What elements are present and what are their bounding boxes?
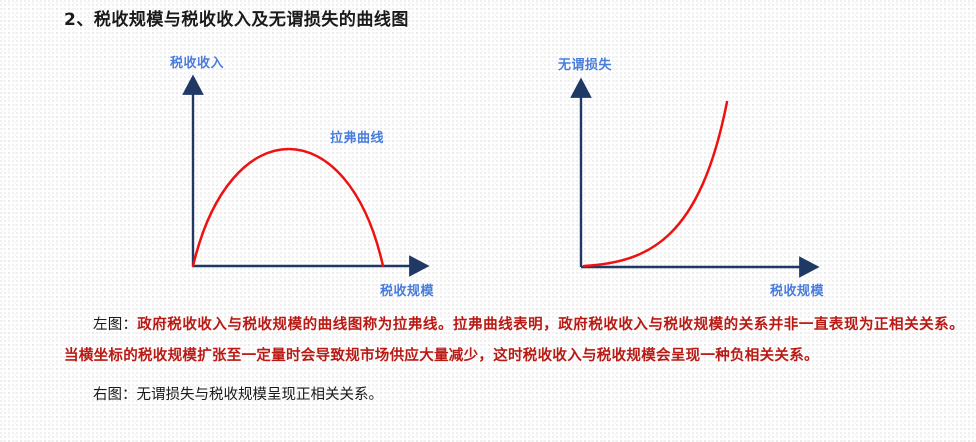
paragraph-left-figure: 左图：政府税收收入与税收规模的曲线图称为拉弗线。拉弗曲线表明，政府税收收入与税收… [64, 310, 964, 372]
figure-area: 税收收入 税收规模 拉弗曲线 [0, 40, 976, 305]
deadweight-loss-curve-path [584, 102, 727, 266]
deadweight-loss-plot [540, 40, 840, 305]
right-chart-y-axis-label: 无谓损失 [558, 54, 612, 73]
chart-laffer-curve: 税收收入 税收规模 拉弗曲线 [150, 40, 450, 305]
paragraph-left-emphasis: 政府税收收入与税收规模的曲线图称为拉弗线。拉弗曲线表明，政府税收收入与税收规模的… [64, 317, 964, 364]
left-chart-y-axis-label: 税收收入 [170, 52, 224, 71]
body-text: 左图：政府税收收入与税收规模的曲线图称为拉弗线。拉弗曲线表明，政府税收收入与税收… [64, 310, 964, 411]
right-chart-x-axis-label: 税收规模 [770, 280, 824, 299]
page-root: 2、税收规模与税收收入及无谓损失的曲线图 [0, 0, 976, 442]
laffer-curve-plot [150, 40, 450, 305]
laffer-curve-path [193, 149, 383, 266]
paragraph-left-lead: 左图： [93, 317, 137, 333]
left-chart-x-axis-label: 税收规模 [380, 280, 434, 299]
paragraph-right-figure: 右图：无谓损失与税收规模呈现正相关关系。 [64, 380, 964, 411]
page-title: 2、税收规模与税收收入及无谓损失的曲线图 [64, 5, 409, 30]
laffer-curve-label: 拉弗曲线 [330, 127, 384, 146]
chart-deadweight-loss: 无谓损失 税收规模 [540, 40, 840, 305]
